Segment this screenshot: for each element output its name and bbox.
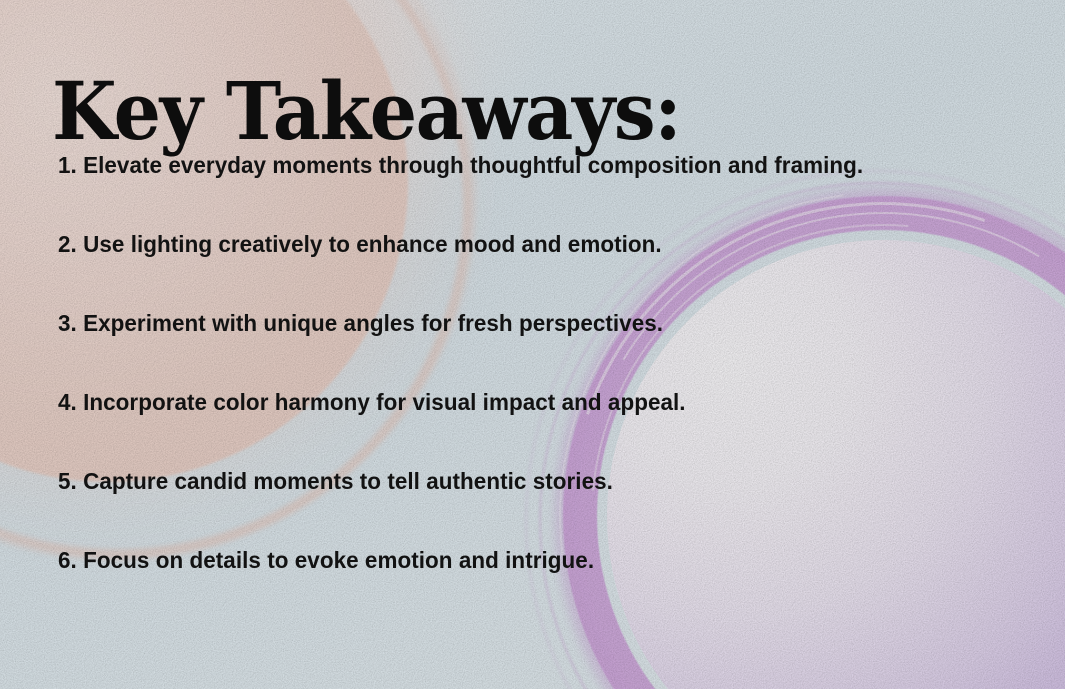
list-item-text: Elevate everyday moments through thought… (83, 152, 863, 178)
list-item: 2. Use lighting creatively to enhance mo… (58, 231, 965, 310)
list-item-number: 1. (58, 152, 83, 178)
list-item-number: 6. (58, 547, 83, 573)
list-item-number: 4. (58, 389, 83, 415)
list-item: 1. Elevate everyday moments through thou… (58, 152, 965, 231)
list-item-number: 2. (58, 231, 83, 257)
poster-content: Key Takeaways: 1. Elevate everyday momen… (0, 0, 1065, 689)
list-item: 6. Focus on details to evoke emotion and… (58, 547, 965, 626)
page-title: Key Takeaways: (52, 68, 680, 154)
takeaways-poster: Key Takeaways: 1. Elevate everyday momen… (0, 0, 1065, 689)
list-item: 3. Experiment with unique angles for fre… (58, 310, 965, 389)
list-item: 5. Capture candid moments to tell authen… (58, 468, 965, 547)
list-item-text: Capture candid moments to tell authentic… (83, 468, 613, 494)
takeaways-list: 1. Elevate everyday moments through thou… (58, 152, 1008, 626)
list-item-number: 5. (58, 468, 83, 494)
list-item-text: Use lighting creatively to enhance mood … (83, 231, 662, 257)
list-item: 4. Incorporate color harmony for visual … (58, 389, 965, 468)
list-item-text: Incorporate color harmony for visual imp… (83, 389, 685, 415)
list-item-number: 3. (58, 310, 83, 336)
list-item-text: Focus on details to evoke emotion and in… (83, 547, 594, 573)
list-item-text: Experiment with unique angles for fresh … (83, 310, 663, 336)
